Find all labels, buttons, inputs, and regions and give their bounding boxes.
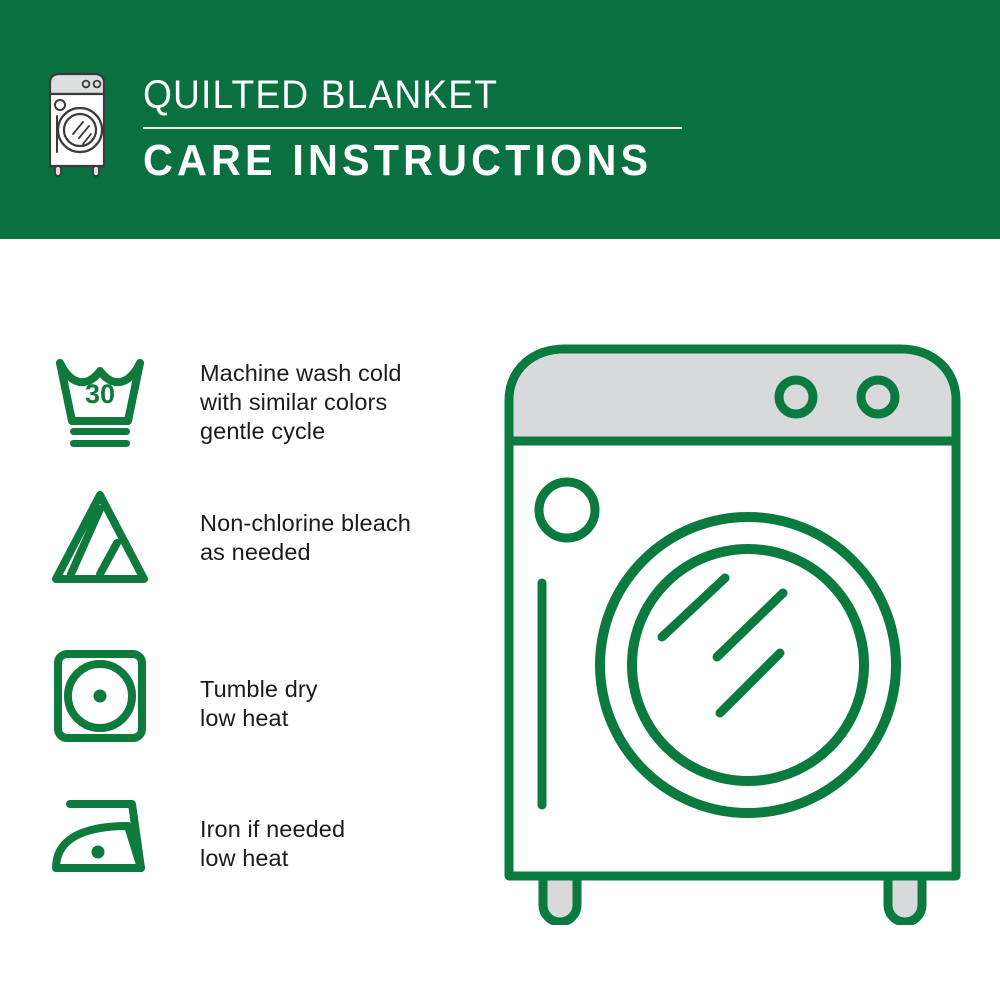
care-text-tumble-dry: Tumble dry low heat bbox=[200, 675, 490, 733]
page-title-secondary: CARE INSTRUCTIONS bbox=[143, 135, 669, 187]
care-row-tumble-dry: Tumble dry low heat bbox=[0, 645, 500, 765]
machine-wash-30-gentle-icon: 30 bbox=[48, 345, 166, 455]
non-chlorine-bleach-triangle-icon bbox=[48, 487, 166, 597]
care-row-bleach: Non-chlorine bleach as needed bbox=[0, 487, 500, 607]
header-title-group: QUILTED BLANKET CARE INSTRUCTIONS bbox=[143, 72, 703, 187]
care-text-line: low heat bbox=[200, 844, 490, 873]
title-divider bbox=[143, 127, 682, 129]
tumble-dry-low-heat-icon bbox=[48, 645, 166, 755]
iron-low-heat-icon bbox=[48, 790, 166, 900]
care-row-wash: 30 Machine wash cold with similar colors… bbox=[0, 345, 500, 465]
header-banner: QUILTED BLANKET CARE INSTRUCTIONS bbox=[0, 0, 1000, 239]
front-load-washing-machine-illustration bbox=[495, 335, 970, 925]
care-text-line: gentle cycle bbox=[200, 417, 490, 446]
washing-machine-icon bbox=[46, 70, 108, 178]
care-text-line: with similar colors bbox=[200, 388, 490, 417]
page-title-primary: QUILTED BLANKET bbox=[143, 72, 664, 118]
care-text-line: Iron if needed bbox=[200, 815, 490, 844]
control-panel bbox=[514, 354, 952, 442]
leg-left bbox=[543, 876, 577, 922]
wash-temperature-label: 30 bbox=[85, 379, 115, 409]
care-text-line: low heat bbox=[200, 704, 490, 733]
care-text-line: Tumble dry bbox=[200, 675, 490, 704]
care-instructions-infographic: QUILTED BLANKET CARE INSTRUCTIONS 30 Mac… bbox=[0, 0, 1000, 1000]
care-row-iron: Iron if needed low heat bbox=[0, 790, 500, 910]
care-text-wash: Machine wash cold with similar colors ge… bbox=[200, 359, 490, 446]
leg-right bbox=[888, 876, 922, 922]
care-text-line: as needed bbox=[200, 538, 490, 567]
care-text-bleach: Non-chlorine bleach as needed bbox=[200, 509, 490, 567]
care-text-line: Non-chlorine bleach bbox=[200, 509, 490, 538]
care-text-iron: Iron if needed low heat bbox=[200, 815, 490, 873]
care-text-line: Machine wash cold bbox=[200, 359, 490, 388]
